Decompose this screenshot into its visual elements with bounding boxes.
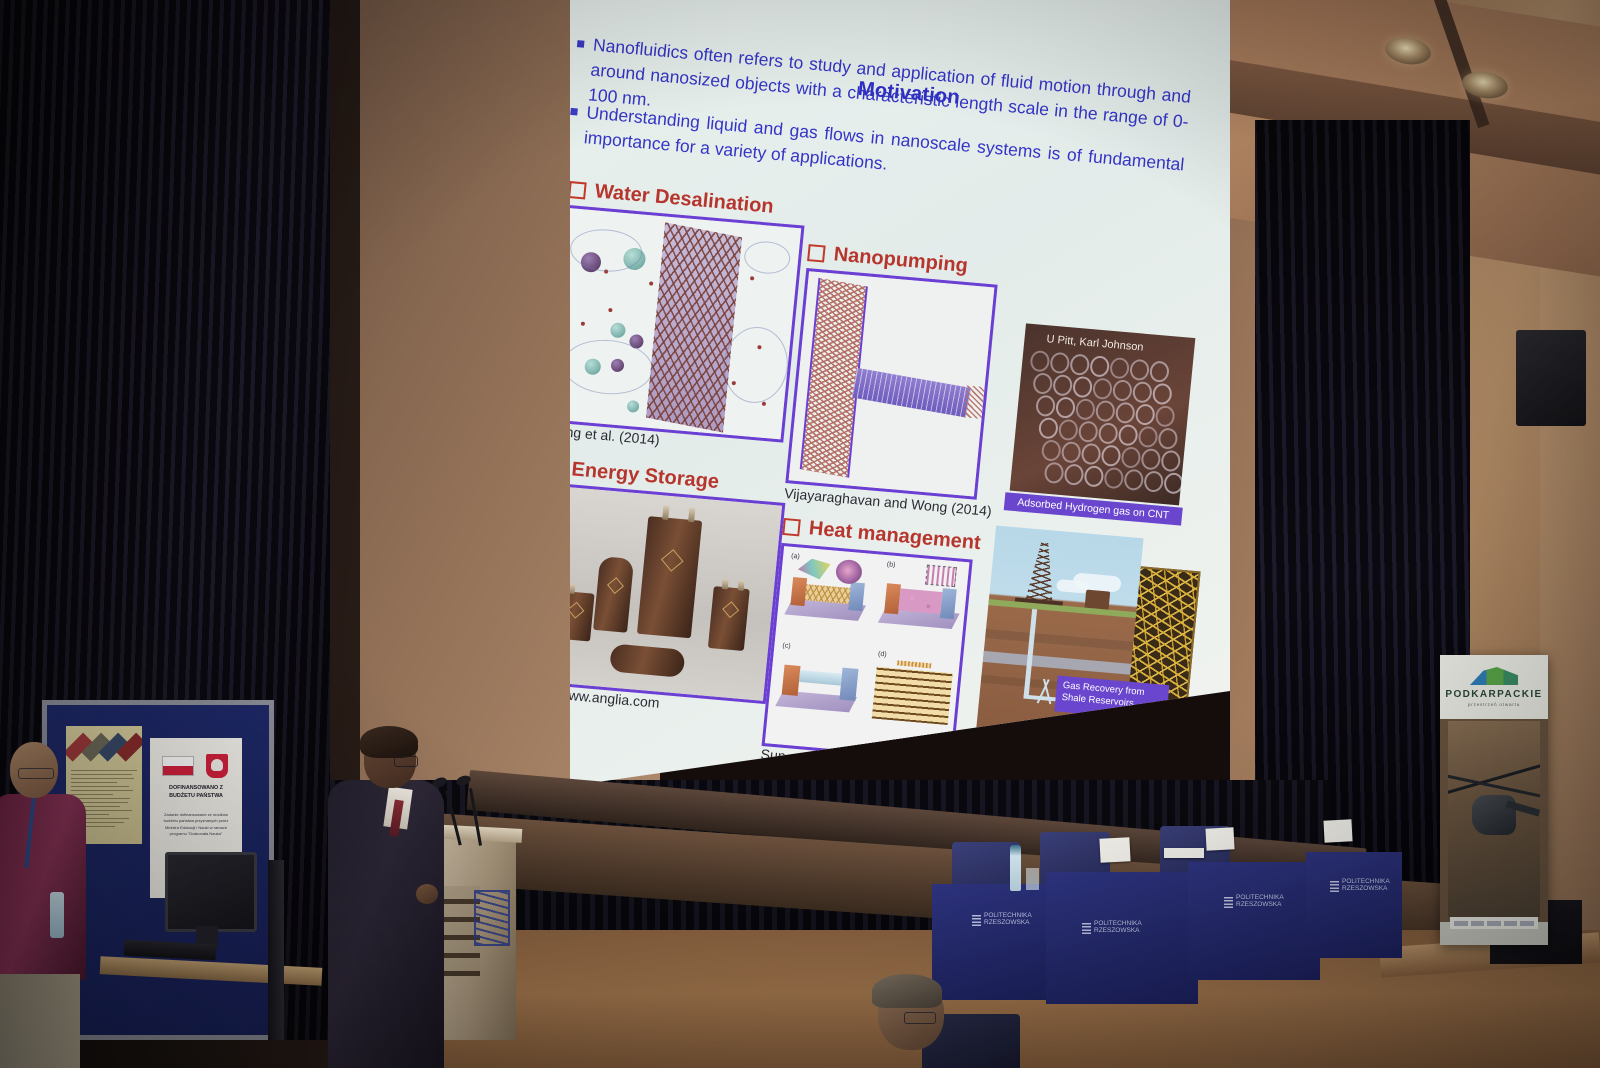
name-card <box>1323 819 1352 842</box>
conference-table: POLITECHNIKA RZESZOWSKA <box>1046 872 1198 1004</box>
cnt-ring-icon <box>1138 426 1159 449</box>
banner-subtitle: przestrzeń otwarta <box>1440 702 1548 707</box>
cnt-ring-icon <box>1101 444 1122 467</box>
carbon-nanotube <box>852 368 972 418</box>
polish-flag-icon <box>162 756 194 776</box>
panel-label-c: (c) <box>782 642 791 650</box>
table-logo: POLITECHNIKA RZESZOWSKA <box>1082 920 1142 935</box>
cnt-ring-icon <box>1069 353 1090 376</box>
checkbox-square-icon <box>545 459 564 477</box>
cnt-ring-icon <box>1078 420 1099 443</box>
cnt-ring-icon <box>1143 470 1164 493</box>
cnt-ring-icon <box>1052 374 1073 397</box>
table-logo-line2: RZESZOWSKA <box>984 919 1032 926</box>
poster-title: DOFINANSOWANO Z BUDŻETU PAŃSTWA <box>158 784 234 800</box>
outflow-particles <box>964 385 985 418</box>
attendee-stage-left <box>0 742 90 1068</box>
glasses-icon <box>904 1012 936 1024</box>
region-logo-icon <box>1470 667 1518 685</box>
supercapacitor-photo <box>528 485 782 701</box>
glasses-icon <box>394 756 418 767</box>
attendee-hair <box>872 974 942 1008</box>
cnt-ring-icon <box>1083 465 1104 488</box>
table-logo-line1: POLITECHNIKA <box>1236 894 1284 901</box>
cnt-ring-icon <box>1135 403 1156 426</box>
cnt-ring-icon <box>1041 439 1062 462</box>
graphene-membrane <box>646 222 742 432</box>
cnt-ring-icon <box>1120 446 1141 469</box>
presenter <box>320 722 460 1068</box>
cnt-ring-icon <box>1092 377 1113 400</box>
cnt-ring-icon <box>1115 402 1136 425</box>
cnt-ring-icon <box>1157 427 1178 450</box>
polish-eagle-emblem-icon <box>206 754 228 778</box>
name-card <box>1205 827 1234 850</box>
cnt-ring-icon <box>1049 352 1070 375</box>
capacitor-small-left <box>554 591 595 642</box>
cnt-ring-icon <box>1112 379 1133 402</box>
cnt-ring-icon <box>1163 472 1184 495</box>
banner-photo-helicopter <box>1448 721 1540 917</box>
attendee-shirt <box>0 794 86 980</box>
screen-surface: Motivation Nanofluidics often refers to … <box>440 0 1230 806</box>
chloride-ion <box>610 322 626 338</box>
table-logo-line1: POLITECHNIKA <box>1094 920 1142 927</box>
cnt-ring-icon <box>1089 355 1110 378</box>
conference-table: POLITECHNIKA RZESZOWSKA <box>1306 852 1402 958</box>
cnt-ring-lattice <box>1018 348 1187 501</box>
drinking-glass <box>1026 868 1039 890</box>
attendee-trousers <box>0 974 80 1068</box>
checkbox-square-icon <box>807 244 826 262</box>
bullet-square-icon <box>570 108 578 116</box>
presenter-hand <box>416 884 438 904</box>
cnt-ring-icon <box>1064 463 1085 486</box>
figure-caption: Sun et al. (2012) <box>760 746 865 771</box>
cnt-ring-icon <box>1129 359 1150 382</box>
cnt-ring-icon <box>1118 424 1139 447</box>
checkbox-square-icon <box>782 518 801 536</box>
paper-sheet <box>1164 848 1204 858</box>
figure-energy-storage <box>525 482 786 704</box>
capacitor-lying <box>609 643 685 677</box>
cnt-ring-icon <box>1032 372 1053 395</box>
glasses-icon <box>18 768 54 779</box>
cnt-ring-icon <box>1055 396 1076 419</box>
bullet-square-icon <box>577 40 585 48</box>
table-logo: POLITECHNIKA RZESZOWSKA <box>1330 878 1390 893</box>
podkarpackie-banner: PODKARPACKIE przestrzeń otwarta <box>1440 655 1548 945</box>
checkbox-square-icon <box>568 181 587 199</box>
figure-nanopumping <box>785 268 997 500</box>
attendee-foreground <box>860 978 980 1068</box>
cnt-ring-icon <box>1149 360 1170 383</box>
drilling-rig-icon <box>1025 541 1059 605</box>
figure-adsorbed-hydrogen-cnt: U Pitt, Karl Johnson <box>1010 323 1196 505</box>
conference-room-scene: Motivation Nanofluidics often refers to … <box>0 0 1600 1068</box>
cnt-ring-icon <box>1061 441 1082 464</box>
presentation-slide: Motivation Nanofluidics often refers to … <box>489 0 1244 840</box>
table-logo-line1: POLITECHNIKA <box>1342 878 1390 885</box>
cnt-ring-icon <box>1029 350 1050 373</box>
panel-label-a: (a) <box>791 553 800 561</box>
table-logo: POLITECHNIKA RZESZOWSKA <box>1224 894 1284 909</box>
cnt-ring-icon <box>1058 419 1079 442</box>
projection-screen: Motivation Nanofluidics often refers to … <box>440 0 1350 836</box>
banner-sponsor-strip <box>1450 917 1538 929</box>
cnt-ring-icon <box>1152 383 1173 406</box>
nanopumping-illustration <box>789 271 995 496</box>
panel-label-d: (d) <box>878 651 887 659</box>
university-logo-icon <box>1224 895 1233 908</box>
table-logo: POLITECHNIKA RZESZOWSKA <box>972 912 1032 927</box>
equipment-tripod <box>268 860 284 1040</box>
university-logo-icon <box>1082 921 1091 934</box>
cnt-ring-icon <box>1044 462 1065 485</box>
thermal-management-diagram: (a) (b) <box>765 546 970 759</box>
cnt-ring-icon <box>1081 443 1102 466</box>
table-logo-line2: RZESZOWSKA <box>1236 901 1284 908</box>
panel-label-b: (b) <box>886 561 895 569</box>
university-logo-icon <box>972 913 981 926</box>
figure-heat-management: (a) (b) <box>762 543 973 763</box>
lectern-logo-icon <box>474 890 510 946</box>
banner-title: PODKARPACKIE <box>1440 689 1548 700</box>
cnt-ring-icon <box>1035 395 1056 418</box>
table-logo-line1: POLITECHNIKA <box>984 912 1032 919</box>
figure-water-desalination <box>546 205 804 443</box>
figure-shale-gas-recovery <box>975 526 1143 750</box>
name-card <box>1099 837 1130 863</box>
cnt-ring-icon <box>1160 450 1181 473</box>
poster-body: Zadanie dofinansowane ze środków budżetu… <box>158 812 234 838</box>
cnt-ring-icon <box>1075 398 1096 421</box>
conference-table: POLITECHNIKA RZESZOWSKA <box>1188 862 1320 980</box>
cnt-ring-icon <box>1098 422 1119 445</box>
desalination-illustration <box>549 208 801 439</box>
table-logo-line2: RZESZOWSKA <box>1094 927 1142 934</box>
cnt-ring-icon <box>1109 357 1130 380</box>
chloride-ion <box>627 400 640 413</box>
cnt-ring-icon <box>1155 405 1176 428</box>
university-logo-icon <box>1330 879 1339 892</box>
cnt-ring-icon <box>1123 469 1144 492</box>
water-bottle <box>1010 845 1021 891</box>
cnt-ring-icon <box>1103 467 1124 490</box>
cnt-ring-icon <box>1132 381 1153 404</box>
loudspeaker <box>1516 330 1586 426</box>
cnt-ring-icon <box>1072 376 1093 399</box>
water-bottle <box>50 892 64 938</box>
capacitor-cylindrical <box>593 556 634 633</box>
presenter-hair <box>360 726 418 758</box>
cnt-ring-icon <box>1140 448 1161 471</box>
table-logo-line2: RZESZOWSKA <box>1342 885 1390 892</box>
cnt-ring-icon <box>1095 400 1116 423</box>
cnt-ring-icon <box>1038 417 1059 440</box>
computer-monitor <box>165 852 257 932</box>
capacitor-small-right <box>708 586 750 651</box>
capacitor-large <box>637 516 702 638</box>
